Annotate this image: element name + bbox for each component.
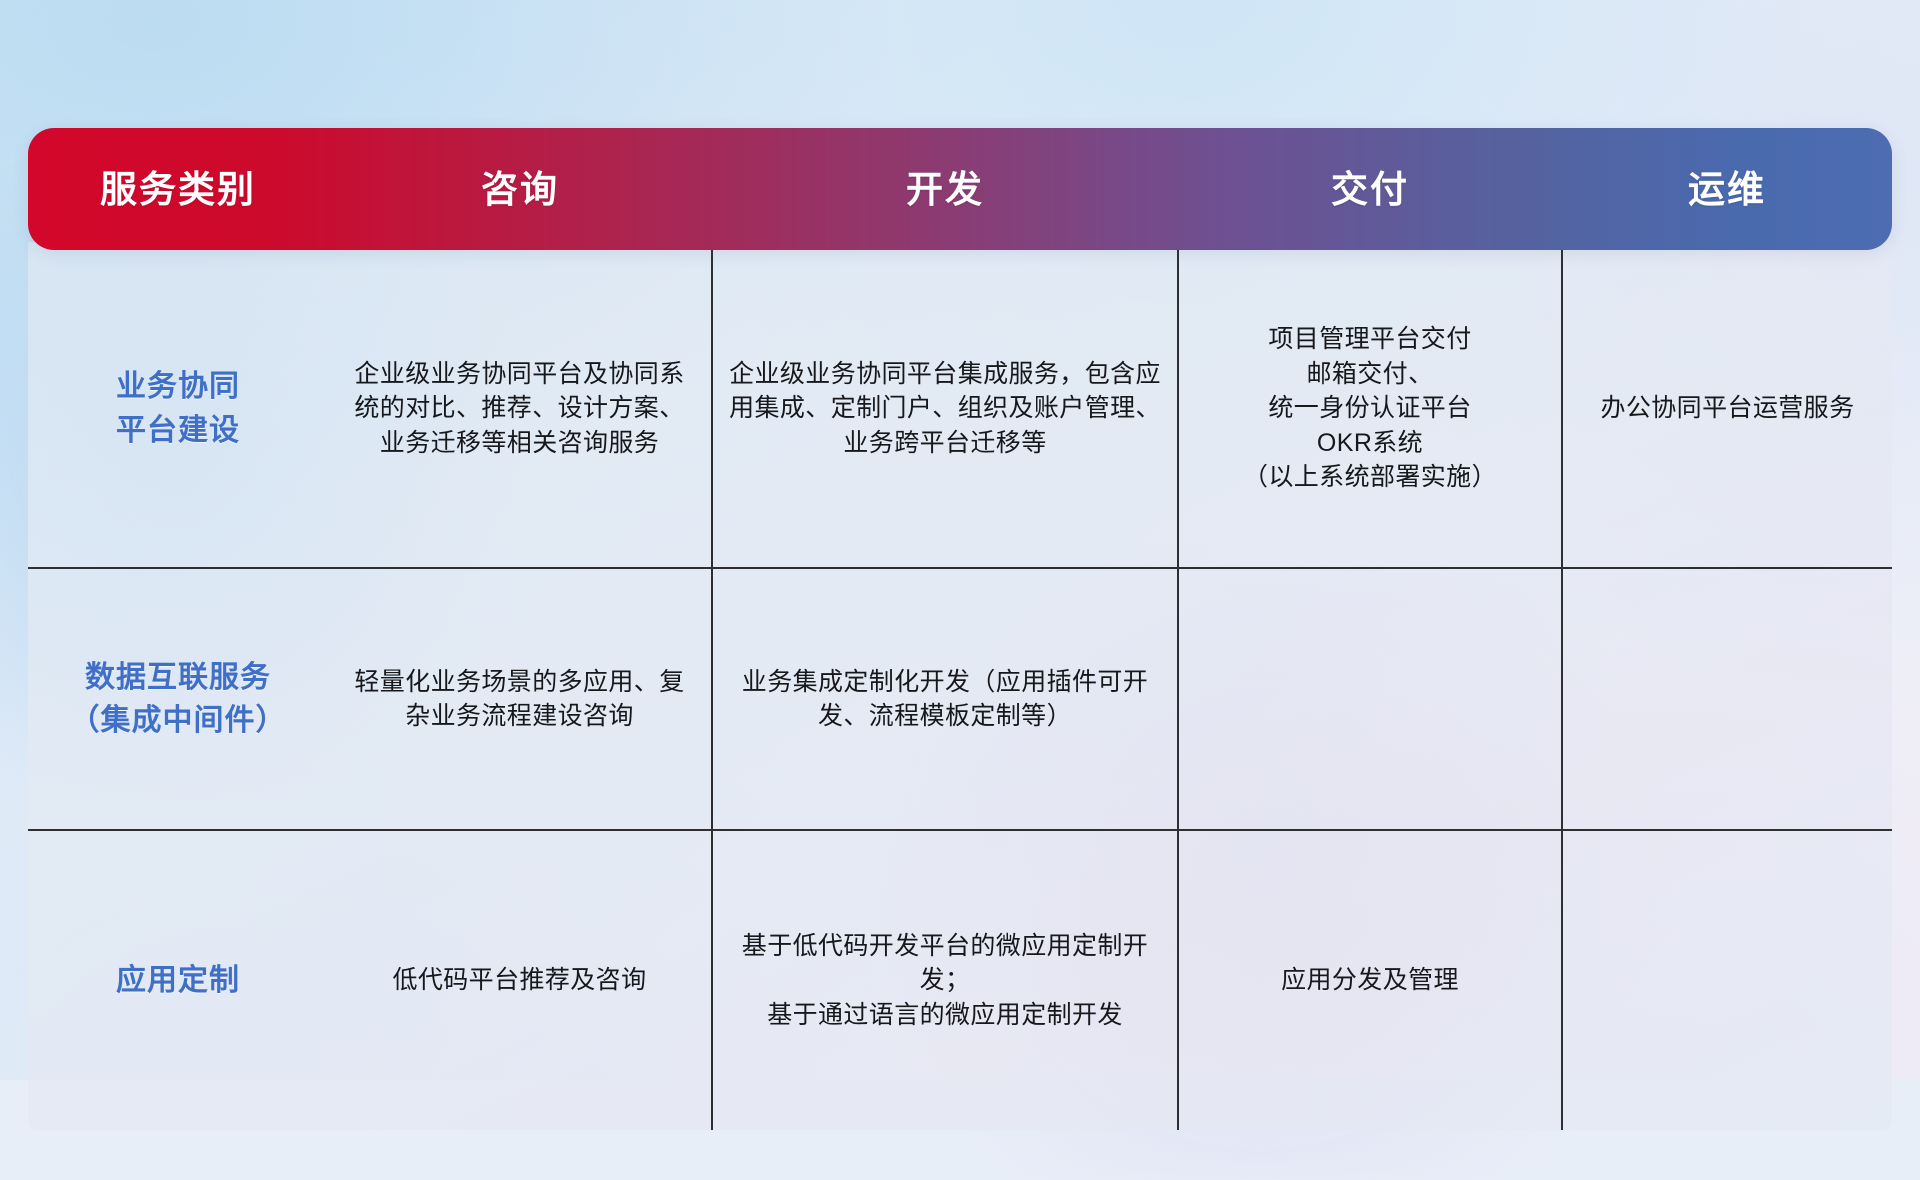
- cell-consulting: 企业级业务协同平台及协同系统的对比、推荐、设计方案、业务迁移等相关咨询服务: [328, 250, 712, 568]
- table-row: 应用定制 低代码平台推荐及咨询 基于低代码开发平台的微应用定制开发； 基于通过语…: [28, 830, 1892, 1130]
- cell-development: 企业级业务协同平台集成服务，包含应用集成、定制门户、组织及账户管理、业务跨平台迁…: [712, 250, 1178, 568]
- cell-consulting: 低代码平台推荐及咨询: [328, 830, 712, 1130]
- cell-delivery: 项目管理平台交付 邮箱交付、 统一身份认证平台 OKR系统 （以上系统部署实施）: [1178, 250, 1562, 568]
- row-category-label: 应用定制: [28, 830, 328, 1130]
- table-body: 业务协同 平台建设 企业级业务协同平台及协同系统的对比、推荐、设计方案、业务迁移…: [28, 250, 1892, 1130]
- cell-development: 业务集成定制化开发（应用插件可开发、流程模板定制等）: [712, 568, 1178, 830]
- row-category-label: 数据互联服务 （集成中间件）: [28, 568, 328, 830]
- cell-operations: [1562, 830, 1892, 1130]
- header-cell-service-category: 服务类别: [28, 171, 328, 208]
- cell-consulting: 轻量化业务场景的多应用、复杂业务流程建设咨询: [328, 568, 712, 830]
- header-cell-delivery: 交付: [1178, 171, 1562, 208]
- cell-operations: 办公协同平台运营服务: [1562, 250, 1892, 568]
- table-header-row: 服务类别 咨询 开发 交付 运维: [28, 128, 1892, 250]
- header-cell-consulting: 咨询: [328, 171, 712, 208]
- cell-development: 基于低代码开发平台的微应用定制开发； 基于通过语言的微应用定制开发: [712, 830, 1178, 1130]
- table-body-panel: 业务协同 平台建设 企业级业务协同平台及协同系统的对比、推荐、设计方案、业务迁移…: [28, 242, 1892, 1130]
- header-cell-operations: 运维: [1562, 171, 1892, 208]
- header-cell-development: 开发: [712, 171, 1178, 208]
- table-row: 数据互联服务 （集成中间件） 轻量化业务场景的多应用、复杂业务流程建设咨询 业务…: [28, 568, 1892, 830]
- cell-operations: [1562, 568, 1892, 830]
- service-matrix-table: 服务类别 咨询 开发 交付 运维 业务协同 平台建设 企业级业务协同平台及协同系…: [28, 128, 1892, 1130]
- table-row: 业务协同 平台建设 企业级业务协同平台及协同系统的对比、推荐、设计方案、业务迁移…: [28, 250, 1892, 568]
- row-category-label: 业务协同 平台建设: [28, 250, 328, 568]
- cell-delivery: [1178, 568, 1562, 830]
- cell-delivery: 应用分发及管理: [1178, 830, 1562, 1130]
